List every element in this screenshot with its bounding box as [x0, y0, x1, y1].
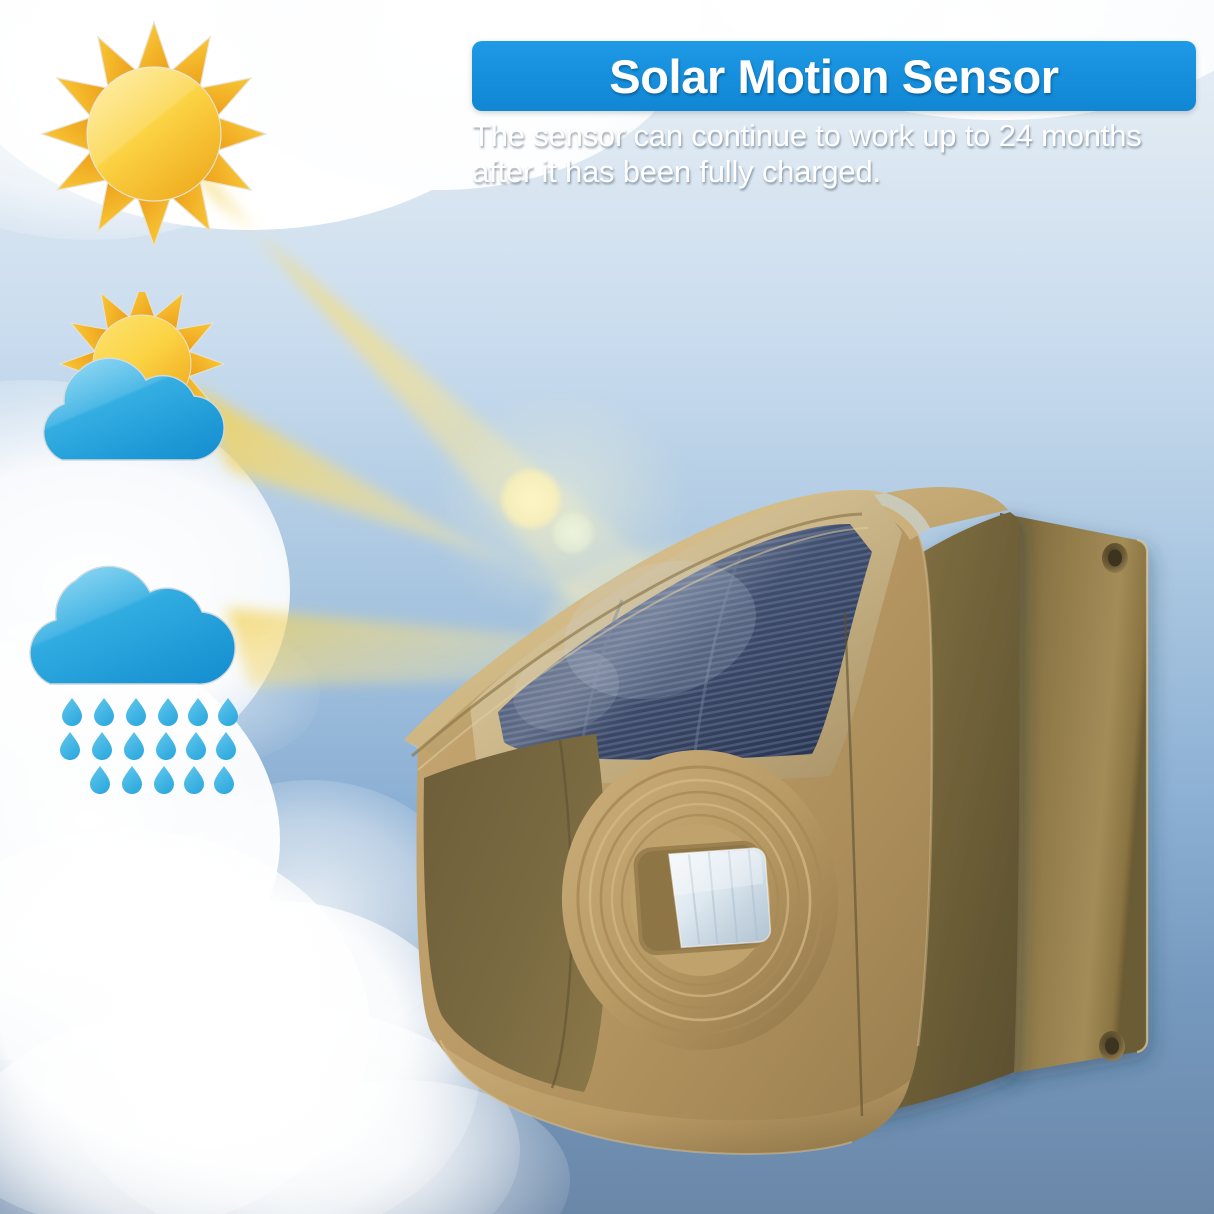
product-image-canvas: Solar Motion Sensor The sensor can conti…: [0, 0, 1214, 1214]
title-banner: Solar Motion Sensor: [472, 41, 1196, 111]
sun-behind-cloud-icon: [36, 292, 252, 490]
page-title: Solar Motion Sensor: [609, 49, 1058, 104]
sun-icon: [36, 18, 272, 250]
rain-drops: [60, 698, 238, 794]
cloud-shape: [30, 566, 235, 684]
subtitle-text: The sensor can continue to work up to 24…: [472, 118, 1196, 190]
rain-cloud-icon: [28, 556, 244, 794]
